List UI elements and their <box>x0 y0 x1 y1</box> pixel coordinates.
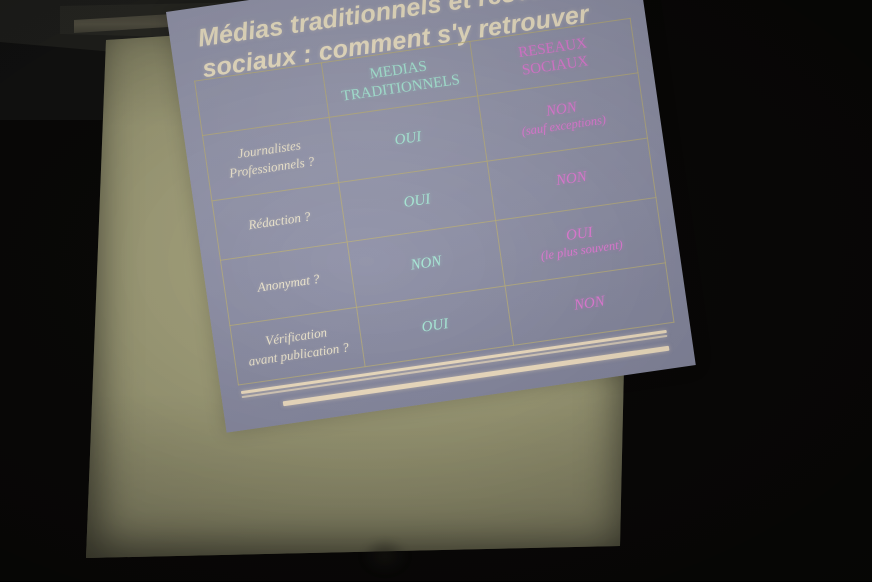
cell-value: OUI <box>421 316 450 336</box>
cell-value: NON <box>573 294 606 314</box>
cell-value: OUI <box>403 192 432 212</box>
projected-slide[interactable]: Médias traditionnels et réseaux sociaux … <box>166 0 696 433</box>
cell-value: OUI <box>394 129 423 149</box>
cell-value: NON <box>410 254 443 274</box>
dark-room-background: Médias traditionnels et réseaux sociaux … <box>0 0 872 581</box>
row-label-line-1: Rédaction ? <box>247 209 311 233</box>
audience-head-shadow <box>352 530 418 582</box>
cell-value: NON <box>555 169 588 189</box>
row-label-line-1: Anonymat ? <box>256 271 320 295</box>
comparison-table: MEDIAS TRADITIONNELS RESEAUX SOCIAUX Jou… <box>194 18 674 386</box>
